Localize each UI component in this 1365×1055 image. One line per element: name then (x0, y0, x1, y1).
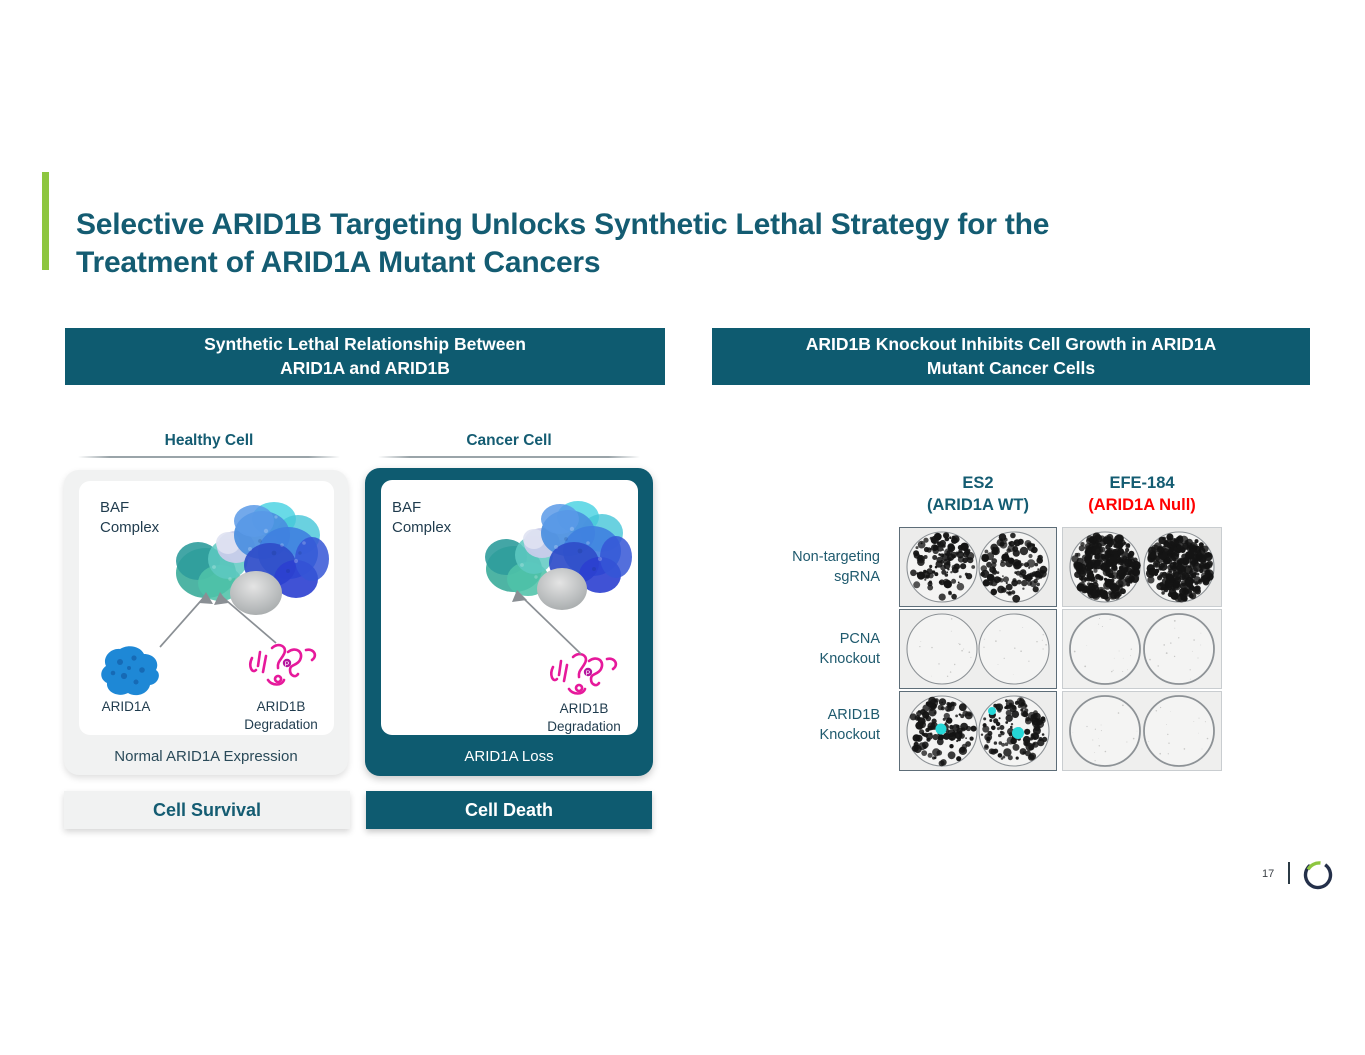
plate-column-name-es2: ES2 (900, 472, 1056, 494)
baf-label-cancer-line-2: Complex (392, 518, 451, 538)
page-number: 17 (1262, 868, 1274, 880)
plate-column-header-es2: ES2 (ARID1A WT) (900, 472, 1056, 517)
prl0-line-1: Non-targeting (756, 548, 880, 568)
cancer-cell-footer-label: ARID1A Loss (365, 748, 653, 765)
baf-label-line-2: Complex (100, 518, 159, 538)
plate-column-name-efe184: EFE-184 (1062, 472, 1222, 494)
right-banner-line-1: ARID1B Knockout Inhibits Cell Growth in … (806, 333, 1217, 357)
plate-column-header-efe184: EFE-184 (ARID1A Null) (1062, 472, 1222, 517)
plate-image-es2-pcna-knockout (899, 609, 1057, 689)
cell-survival-label: Cell Survival (153, 800, 261, 821)
left-banner-line-2: ARID1A and ARID1B (204, 357, 526, 381)
healthy-cell-column-header: Healthy Cell (74, 432, 344, 450)
prl2-line-1: ARID1B (756, 706, 880, 726)
page-title-line-2: Treatment of ARID1A Mutant Cancers (76, 244, 1256, 282)
plate-row-label-non-targeting: Non-targeting sgRNA (756, 548, 880, 587)
page-title: Selective ARID1B Targeting Unlocks Synth… (76, 206, 1256, 283)
cell-death-outcome-bar: Cell Death (366, 791, 652, 829)
right-panel-banner: ARID1B Knockout Inhibits Cell Growth in … (712, 328, 1310, 385)
arid1b-degradation-label-healthy: ARID1B Degradation (225, 698, 337, 734)
prl1-line-1: PCNA (756, 630, 880, 650)
deg-label-h-line-2: Degradation (225, 716, 337, 734)
healthy-cell-divider (78, 456, 340, 458)
footer-divider (1288, 862, 1290, 884)
arid1b-degradation-label-cancer: ARID1B Degradation (528, 700, 640, 736)
plate-image-es2-arid1b-knockout (899, 691, 1057, 771)
plate-image-es2-non-targeting (899, 527, 1057, 607)
left-panel-banner-text: Synthetic Lethal Relationship Between AR… (204, 333, 526, 380)
plate-image-efe184-non-targeting (1062, 527, 1222, 607)
deg-label-h-line-1: ARID1B (225, 698, 337, 716)
plate-image-efe184-pcna-knockout (1062, 609, 1222, 689)
degradation-arrow-icon (495, 580, 625, 680)
left-panel-banner: Synthetic Lethal Relationship Between AR… (65, 328, 665, 385)
baf-complex-label-healthy: BAF Complex (100, 498, 159, 537)
left-banner-line-1: Synthetic Lethal Relationship Between (204, 333, 526, 357)
prl2-line-2: Knockout (756, 726, 880, 746)
cell-death-label: Cell Death (465, 800, 553, 821)
right-panel-banner-text: ARID1B Knockout Inhibits Cell Growth in … (806, 333, 1217, 380)
prl0-line-2: sgRNA (756, 568, 880, 588)
plate-column-subtitle-efe184: (ARID1A Null) (1062, 494, 1222, 516)
plate-image-efe184-arid1b-knockout (1062, 691, 1222, 771)
plate-row-label-arid1b-knockout: ARID1B Knockout (756, 706, 880, 745)
cancer-cell-column-header: Cancer Cell (375, 432, 643, 450)
arid1a-label: ARID1A (84, 698, 168, 716)
healthy-cell-footer-label: Normal ARID1A Expression (64, 748, 348, 765)
prl1-line-2: Knockout (756, 650, 880, 670)
brand-logo-icon (1301, 858, 1335, 892)
title-accent-bar (42, 172, 49, 270)
page-title-line-1: Selective ARID1B Targeting Unlocks Synth… (76, 206, 1256, 244)
deg-label-c-line-1: ARID1B (528, 700, 640, 718)
deg-label-c-line-2: Degradation (528, 718, 640, 736)
cell-survival-outcome-bar: Cell Survival (64, 791, 350, 829)
baf-label-cancer-line-1: BAF (392, 498, 451, 518)
plate-column-subtitle-es2: (ARID1A WT) (900, 494, 1056, 516)
baf-label-line-1: BAF (100, 498, 159, 518)
incorporation-arrows-icon (120, 585, 335, 665)
right-banner-line-2: Mutant Cancer Cells (806, 357, 1217, 381)
plate-row-label-pcna-knockout: PCNA Knockout (756, 630, 880, 669)
baf-complex-label-cancer: BAF Complex (392, 498, 451, 537)
cancer-cell-divider (378, 456, 640, 458)
